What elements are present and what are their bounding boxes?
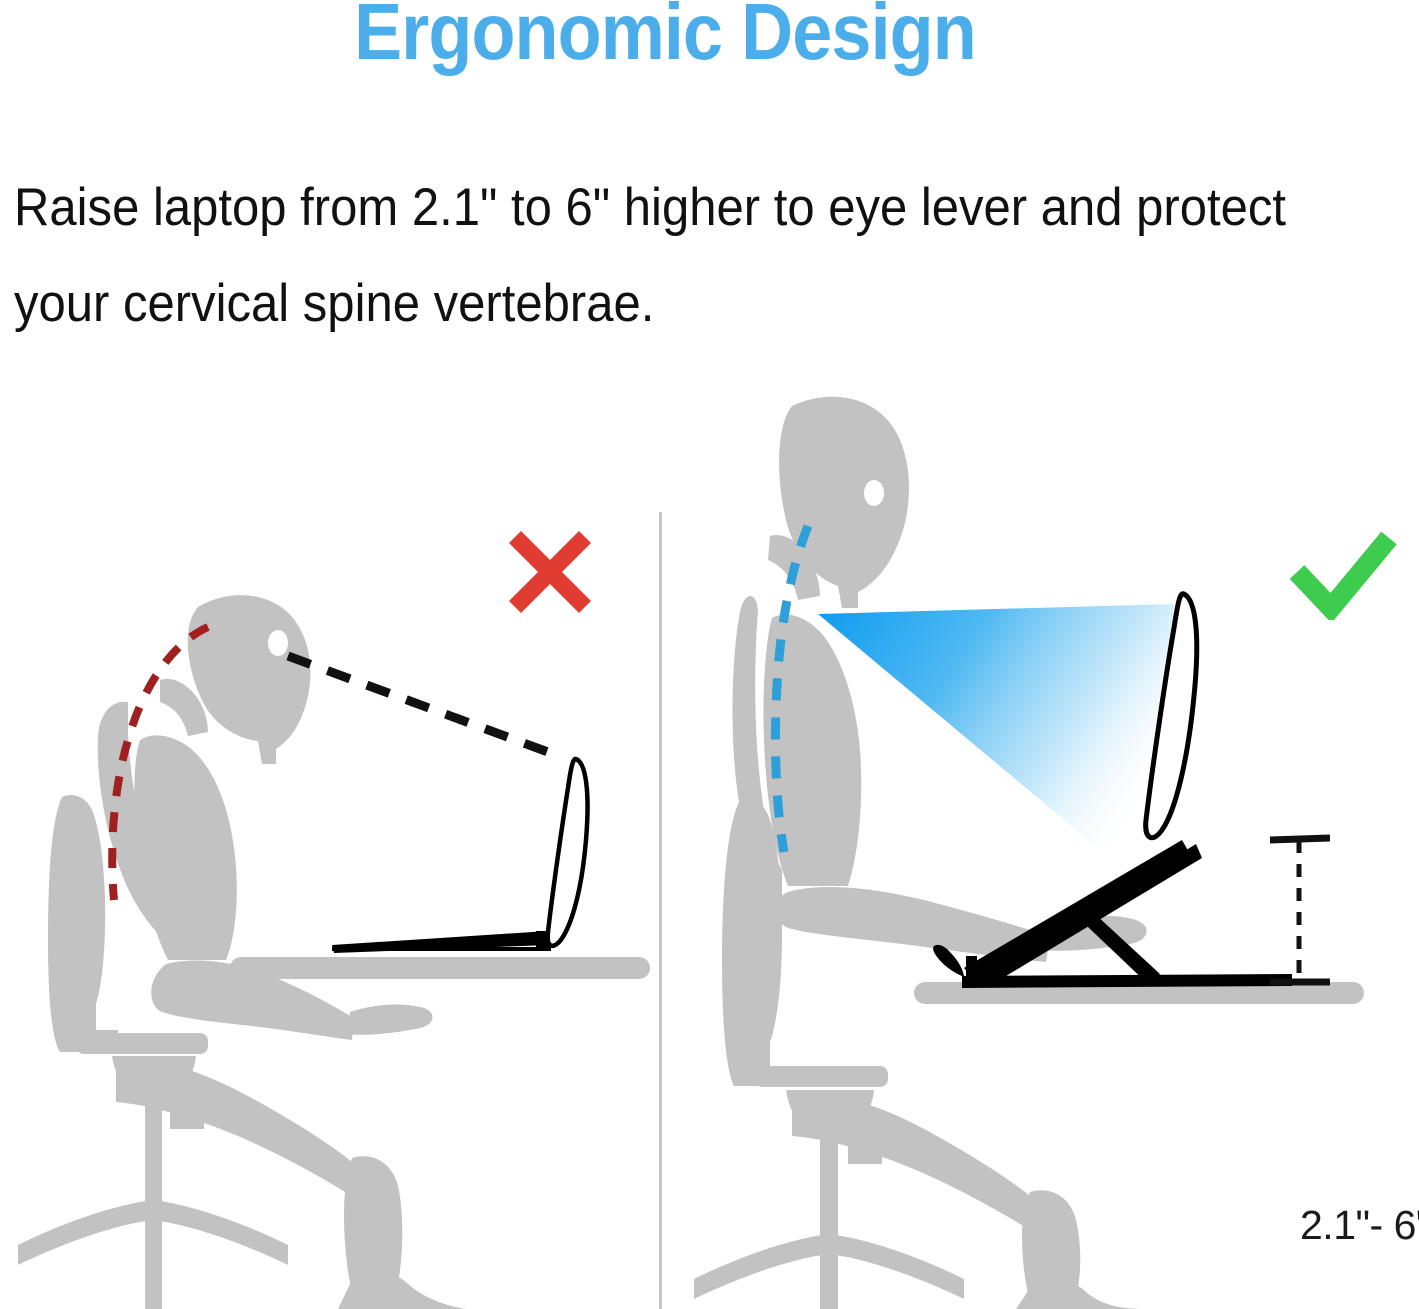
eye-highlight <box>268 630 288 656</box>
laptop-flat <box>332 759 588 953</box>
height-dimension-label: 2.1"- 6" <box>1300 1202 1419 1249</box>
eye-highlight <box>864 480 884 506</box>
good-posture-figure <box>662 340 1419 1309</box>
check-icon <box>1287 528 1399 620</box>
desk-surface <box>230 957 650 979</box>
panel-incorrect-posture <box>0 340 659 1309</box>
cross-icon <box>502 526 598 618</box>
sight-line-downward <box>288 656 548 752</box>
subtitle-line-1: Raise laptop from 2.1" to 6" higher to e… <box>14 160 1300 256</box>
infographic-page: Ergonomic Design Raise laptop from 2.1" … <box>0 0 1419 1309</box>
comparison-illustration: 2.1"- 6" <box>0 340 1419 1309</box>
bad-posture-figure <box>0 340 659 1309</box>
height-dimension-line <box>1270 838 1330 982</box>
subtitle: Raise laptop from 2.1" to 6" higher to e… <box>14 160 1404 352</box>
seated-person-silhouette <box>18 595 466 1309</box>
header: Ergonomic Design Raise laptop from 2.1" … <box>0 0 1419 340</box>
vision-cone <box>818 604 1174 900</box>
page-title: Ergonomic Design <box>67 0 1264 72</box>
seated-person-silhouette <box>694 397 1147 1309</box>
panel-correct-posture <box>662 340 1419 1309</box>
subtitle-line-2: your cervical spine vertebrae. <box>14 256 1300 352</box>
